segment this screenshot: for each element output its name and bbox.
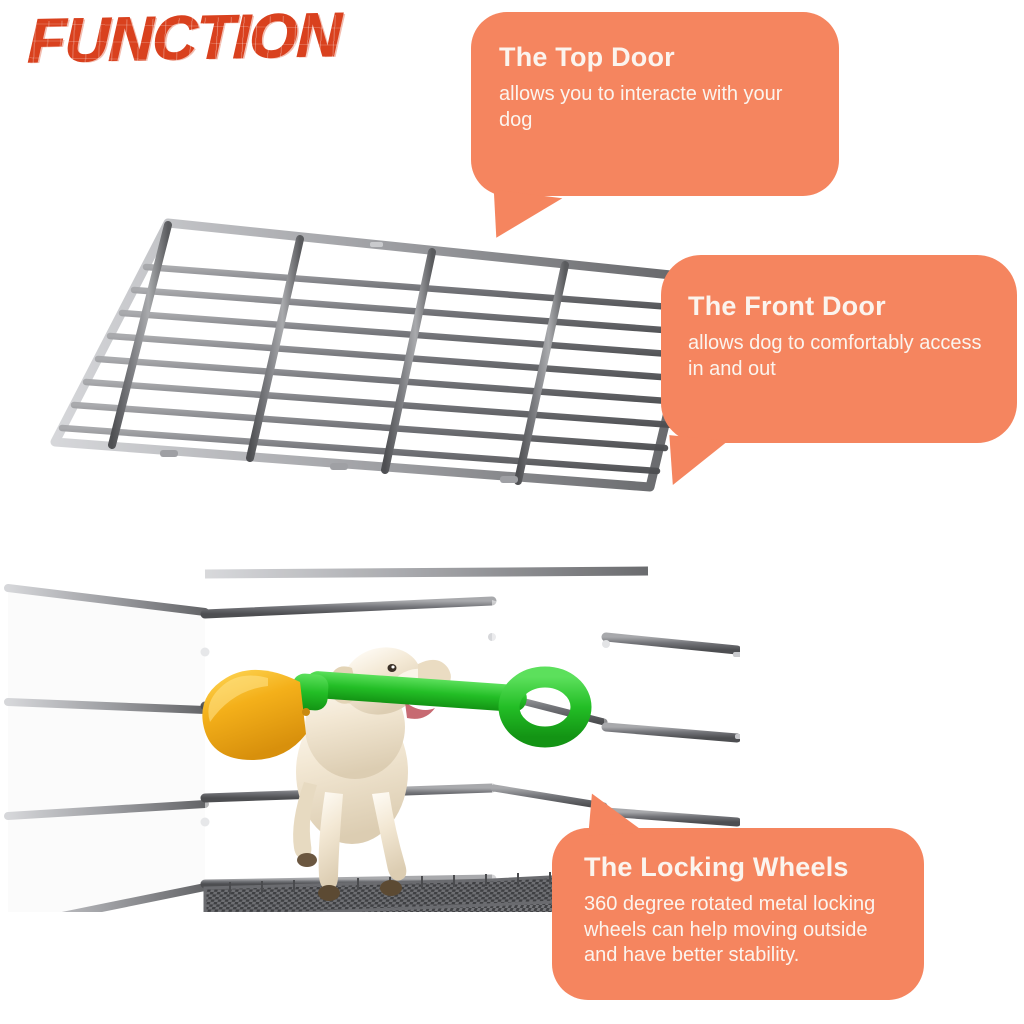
callout-top-door-tail bbox=[494, 186, 564, 237]
callout-front-door-body: allows dog to comfortably access in and … bbox=[688, 331, 999, 382]
callout-locking-wheels-title: The Locking Wheels bbox=[584, 852, 904, 883]
callout-locking-wheels-tail bbox=[588, 794, 647, 841]
callout-top-door-title: The Top Door bbox=[499, 42, 813, 73]
callout-top-door-body: allows you to interacte with your dog bbox=[499, 82, 813, 133]
callout-front-door: The Front Door allows dog to comfortably… bbox=[661, 255, 1017, 443]
top-door-panel bbox=[55, 223, 710, 487]
callout-front-door-tail bbox=[669, 431, 730, 485]
callout-top-door: The Top Door allows you to interacte wit… bbox=[471, 12, 839, 196]
callout-front-door-title: The Front Door bbox=[688, 291, 999, 322]
left-side-panel bbox=[8, 588, 205, 912]
callout-locking-wheels: The Locking Wheels 360 degree rotated me… bbox=[552, 828, 924, 1000]
infographic-canvas: FUNCTION bbox=[0, 0, 1024, 1024]
page-title: FUNCTION bbox=[27, 5, 342, 74]
callout-locking-wheels-body: 360 degree rotated metal locking wheels … bbox=[584, 892, 904, 969]
